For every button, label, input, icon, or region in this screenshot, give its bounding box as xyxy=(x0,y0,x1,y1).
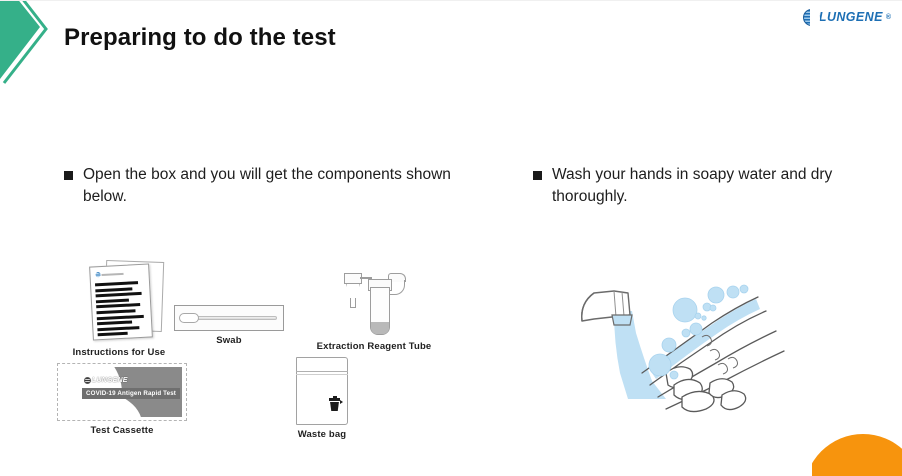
swab-illustration xyxy=(174,305,284,331)
cassette-product-name: COVID-19 Antigen Rapid Test xyxy=(82,388,180,399)
left-column: Open the box and you will get the compon… xyxy=(64,164,464,208)
registered-mark: ® xyxy=(886,14,891,21)
waste-bag-illustration xyxy=(296,357,348,425)
handwashing-under-faucet-illustration xyxy=(570,263,820,443)
brand-name: LUNGENE xyxy=(819,11,883,24)
lungene-globe-icon xyxy=(84,377,91,384)
test-cassette-box-illustration: LUNGENE COVID-19 Antigen Rapid Test xyxy=(57,363,187,421)
right-column: Wash your hands in soapy water and dry t… xyxy=(533,164,873,208)
square-bullet-icon xyxy=(533,171,542,180)
component-label: Instructions for Use xyxy=(60,347,178,358)
page-title: Preparing to do the test xyxy=(64,24,336,52)
trash-bin-icon xyxy=(329,398,340,411)
cassette-brand-name: LUNGENE xyxy=(92,377,128,384)
bullet-text: Wash your hands in soapy water and dry t… xyxy=(552,164,873,208)
component-swab: Swab xyxy=(170,305,288,346)
component-extraction-reagent-tube: Extraction Reagent Tube xyxy=(284,269,464,352)
bullet-item-wash-hands: Wash your hands in soapy water and dry t… xyxy=(533,164,873,208)
component-label: Test Cassette xyxy=(52,425,192,436)
component-label: Extraction Reagent Tube xyxy=(284,341,464,352)
bullet-text: Open the box and you will get the compon… xyxy=(83,164,464,208)
cassette-brand-logo: LUNGENE xyxy=(84,377,128,384)
extraction-tube-illustration xyxy=(338,269,410,337)
component-test-cassette: LUNGENE COVID-19 Antigen Rapid Test Test… xyxy=(52,363,192,436)
component-label: Waste bag xyxy=(262,429,382,440)
brand-logo: LUNGENE ® xyxy=(803,6,891,28)
square-bullet-icon xyxy=(64,171,73,180)
paper-sheet-front xyxy=(89,263,153,340)
sheet-logo-icon xyxy=(95,271,123,277)
sheet-text-lines xyxy=(95,281,148,339)
bullet-item-open-box: Open the box and you will get the compon… xyxy=(64,164,464,208)
lungene-globe-icon xyxy=(803,9,820,26)
slide-canvas: LUNGENE ® Preparing to do the test Open … xyxy=(0,0,902,476)
instructions-sheets-illustration xyxy=(69,259,169,343)
component-label: Swab xyxy=(170,335,288,346)
kit-components-group: Instructions for Use Swab xyxy=(52,259,472,459)
orange-circle-shape xyxy=(812,422,902,476)
component-instructions-for-use: Instructions for Use xyxy=(60,259,178,358)
component-waste-bag: Waste bag xyxy=(262,357,382,440)
green-chevron-shape xyxy=(0,0,64,95)
